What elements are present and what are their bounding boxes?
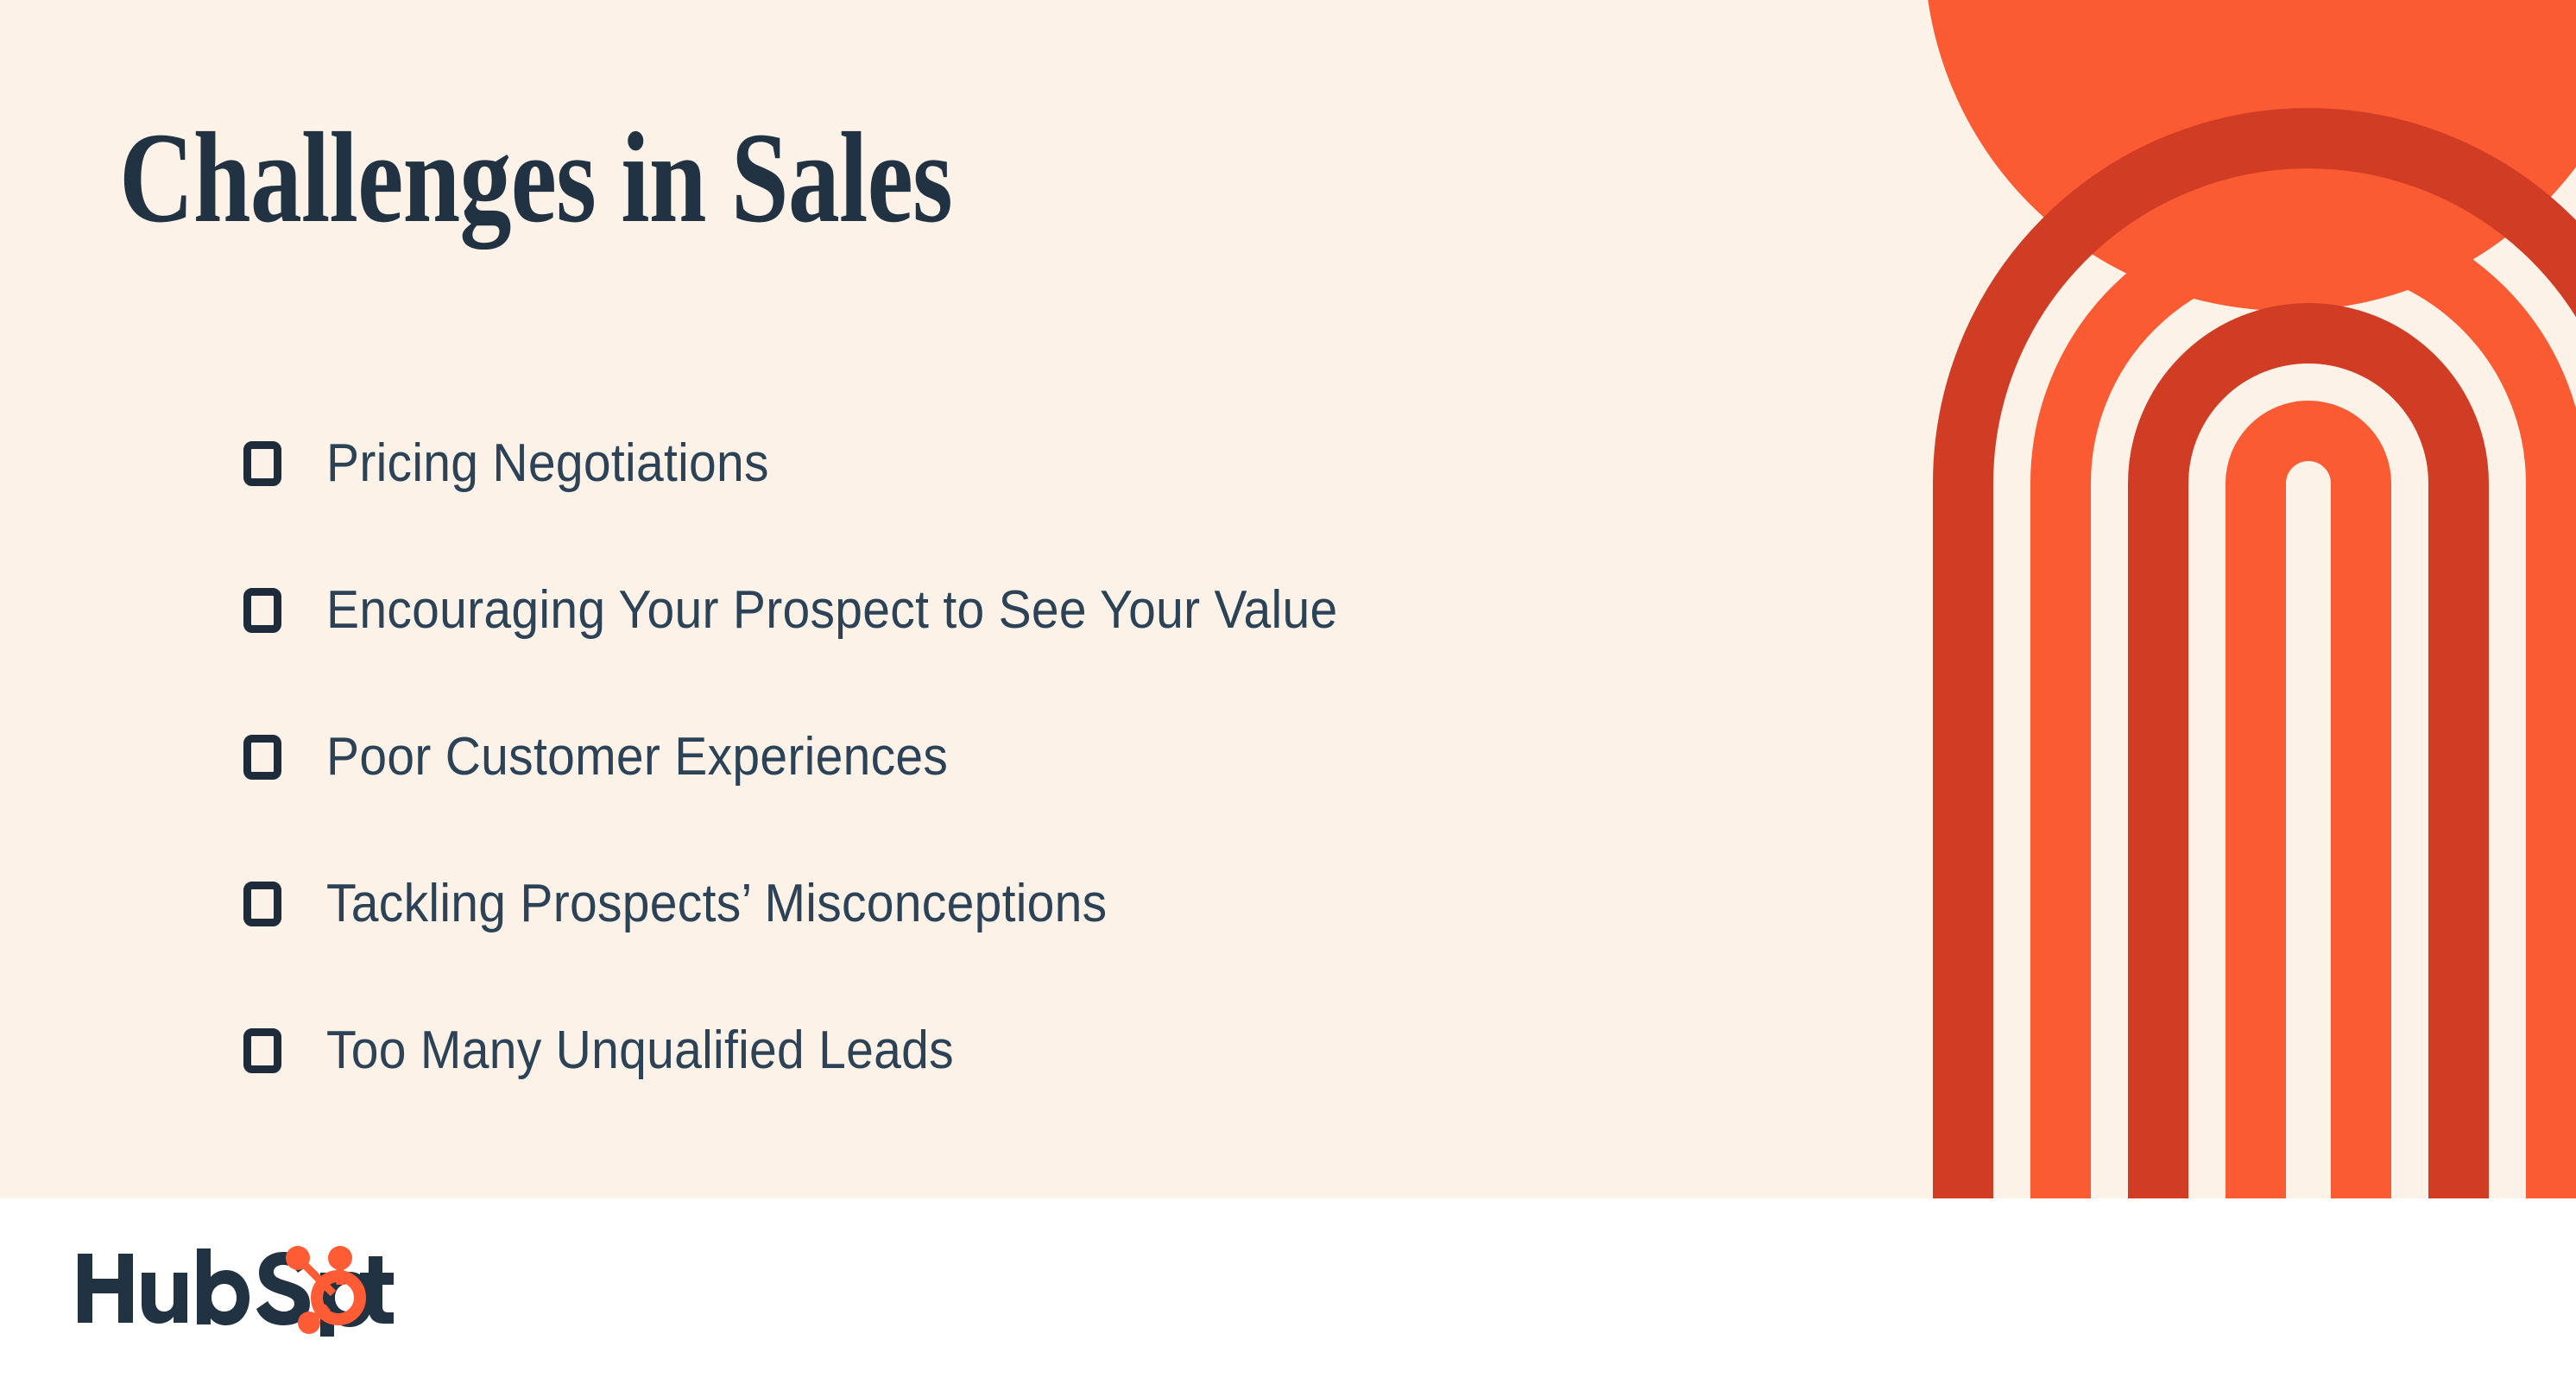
list-item: Pricing Negotiations (243, 390, 1425, 537)
slide-footer (0, 1198, 2576, 1378)
list-item: Encouraging Your Prospect to See Your Va… (243, 537, 1425, 684)
list-item-label: Encouraging Your Prospect to See Your Va… (326, 584, 1338, 637)
hubspot-logo (74, 1240, 394, 1337)
slide-canvas: Challenges in Sales Pricing Negotiations… (0, 0, 2576, 1378)
rounded-square-bullet-icon (243, 882, 281, 926)
rounded-square-bullet-icon (243, 441, 281, 486)
list-item: Tackling Prospects’ Misconceptions (243, 831, 1425, 977)
page-title: Challenges in Sales (119, 111, 952, 245)
rounded-square-bullet-icon (243, 1028, 281, 1073)
rounded-square-bullet-icon (243, 735, 281, 780)
rounded-square-bullet-icon (243, 588, 281, 633)
slide-background: Challenges in Sales Pricing Negotiations… (0, 0, 2576, 1198)
challenges-list: Pricing Negotiations Encouraging Your Pr… (243, 390, 1425, 1124)
list-item-label: Too Many Unqualified Leads (326, 1024, 954, 1078)
decorative-arches-graphic (1799, 0, 2576, 1198)
list-item-label: Poor Customer Experiences (326, 730, 948, 784)
list-item-label: Tackling Prospects’ Misconceptions (326, 877, 1107, 931)
list-item-label: Pricing Negotiations (326, 437, 769, 490)
list-item: Too Many Unqualified Leads (243, 977, 1425, 1124)
list-item: Poor Customer Experiences (243, 684, 1425, 831)
